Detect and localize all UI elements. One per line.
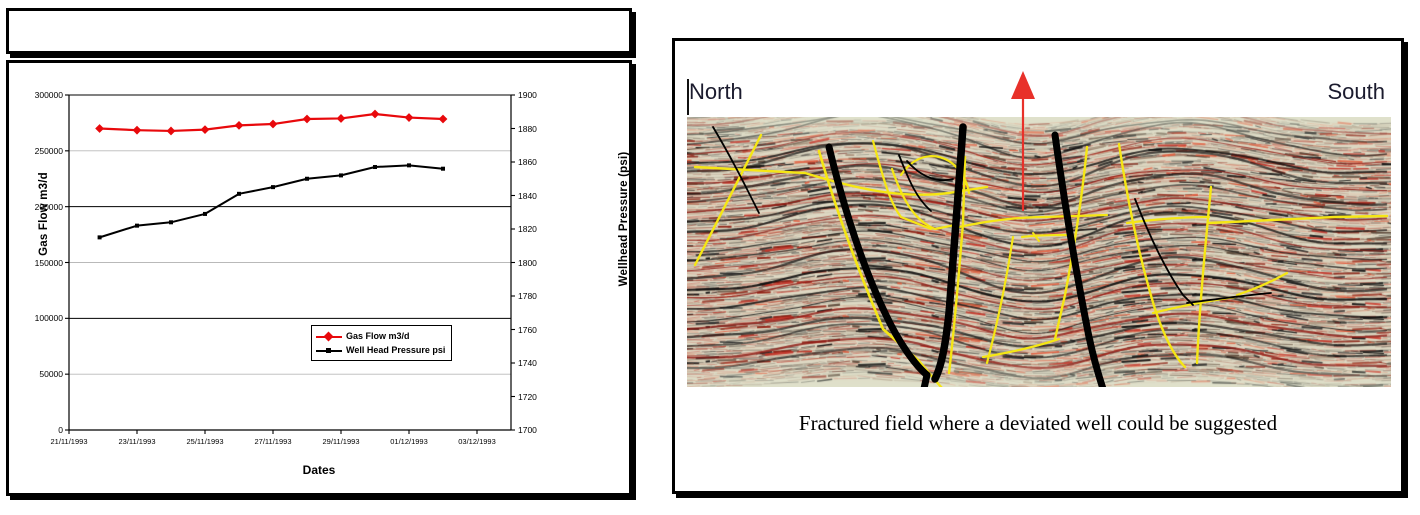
x-axis-tick-label: 01/12/1993 [390,437,428,446]
y2-axis-tick-label: 1760 [518,325,537,335]
y-axis-tick-label: 0 [9,425,63,435]
y2-axis-tick-label: 1900 [518,90,537,100]
x-axis-tick-label: 29/11/1993 [323,437,360,446]
y2-axis-tick-label: 1780 [518,291,537,301]
y-axis-tick-label: 300000 [9,90,63,100]
x-axis-tick-label: 27/11/1993 [255,437,292,446]
seismic-frame: North South Fractured field where a devi… [672,38,1404,494]
chart-header-box [6,8,632,54]
y-axis-tick-label: 250000 [9,146,63,156]
gas-flow-chart-panel: Gas Flow m3/d Wellhead Pressure (psi) Da… [6,8,638,500]
legend-item-label: Gas Flow m3/d [346,331,410,341]
y2-axis-tick-label: 1700 [518,425,537,435]
y2-axis-tick-label: 1720 [518,392,537,402]
x-axis-tick-label: 23/11/1993 [119,437,156,446]
chart-plot-area: Gas Flow m3/d Wellhead Pressure (psi) Da… [9,63,629,493]
legend-item-label: Well Head Pressure psi [346,345,445,355]
y-axis-tick-label: 200000 [9,202,63,212]
y2-axis-tick-label: 1840 [518,191,537,201]
y2-axis-title: Wellhead Pressure (psi) [618,104,630,334]
x-axis-tick-label: 25/11/1993 [187,437,224,446]
y2-axis-tick-label: 1880 [518,124,537,134]
seismic-section-panel: North South Fractured field where a devi… [672,38,1410,500]
legend-square-icon [316,344,342,356]
chart-legend[interactable]: Gas Flow m3/dWell Head Pressure psi [311,325,452,361]
y-axis-tick-label: 100000 [9,313,63,323]
x-axis-tick-label: 21/11/1993 [51,437,88,446]
legend-diamond-icon [316,330,342,342]
legend-item[interactable]: Gas Flow m3/d [316,329,445,343]
x-axis-tick-label: 03/12/1993 [458,437,496,446]
y2-axis-tick-label: 1860 [518,157,537,167]
y2-axis-tick-label: 1820 [518,224,537,234]
page-root: Gas Flow m3/d Wellhead Pressure (psi) Da… [0,0,1420,515]
legend-item[interactable]: Well Head Pressure psi [316,343,445,357]
chart-container: Gas Flow m3/d Wellhead Pressure (psi) Da… [6,60,632,496]
y-axis-tick-label: 150000 [9,258,63,268]
x-axis-title: Dates [9,463,629,477]
north-arrow-head [1011,71,1035,99]
y2-axis-tick-label: 1740 [518,358,537,368]
y2-axis-tick-label: 1800 [518,258,537,268]
y-axis-tick-label: 50000 [9,369,63,379]
figure-caption: Fractured field where a deviated well co… [675,411,1401,436]
